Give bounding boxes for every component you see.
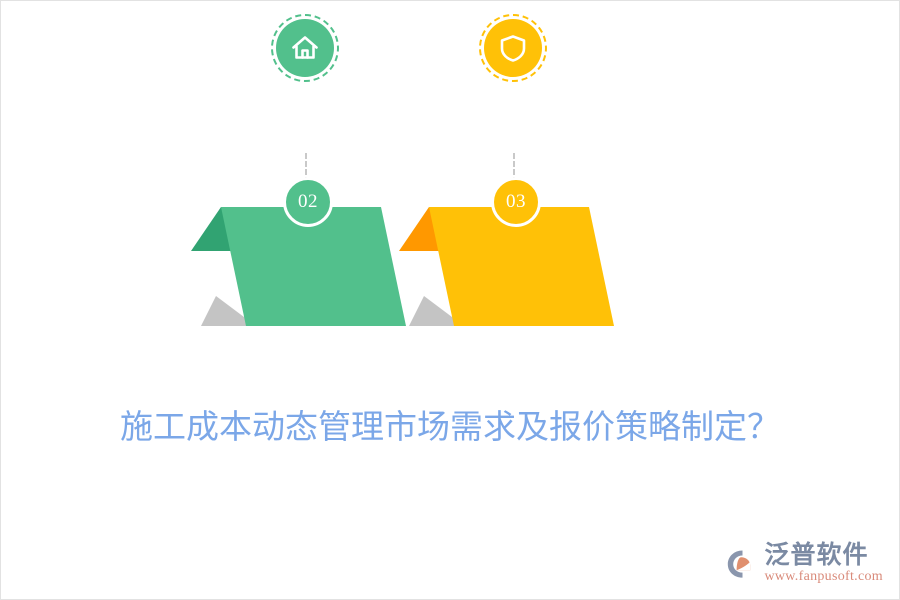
logo-company-name: 泛普软件 — [764, 542, 868, 568]
shield-icon — [497, 32, 529, 64]
step-number-label-03: 03 — [506, 191, 526, 213]
step-number-label-02: 02 — [298, 191, 318, 213]
brand-logo[interactable]: 泛普软件 www.fanpusoft.com — [726, 542, 883, 585]
fanpu-logo-mark — [726, 548, 760, 580]
infographic-step-03: 03 — [399, 1, 629, 381]
logo-website-url: www.fanpusoft.com — [764, 569, 883, 585]
step-number-badge-03[interactable]: 03 — [491, 177, 541, 227]
icon-bubble-02[interactable] — [276, 19, 334, 77]
slide-canvas: 02 03 施工成本动态管理市场需求及报价策略制 — [0, 0, 900, 600]
home-icon — [289, 32, 321, 64]
icon-bubble-03[interactable] — [484, 19, 542, 77]
step-number-badge-02[interactable]: 02 — [283, 177, 333, 227]
infographic-graphic: 02 03 — [1, 1, 900, 381]
infographic-step-02: 02 — [191, 1, 421, 381]
logo-text-group: 泛普软件 www.fanpusoft.com — [764, 542, 883, 585]
page-title: 施工成本动态管理市场需求及报价策略制定？ — [1, 405, 899, 449]
